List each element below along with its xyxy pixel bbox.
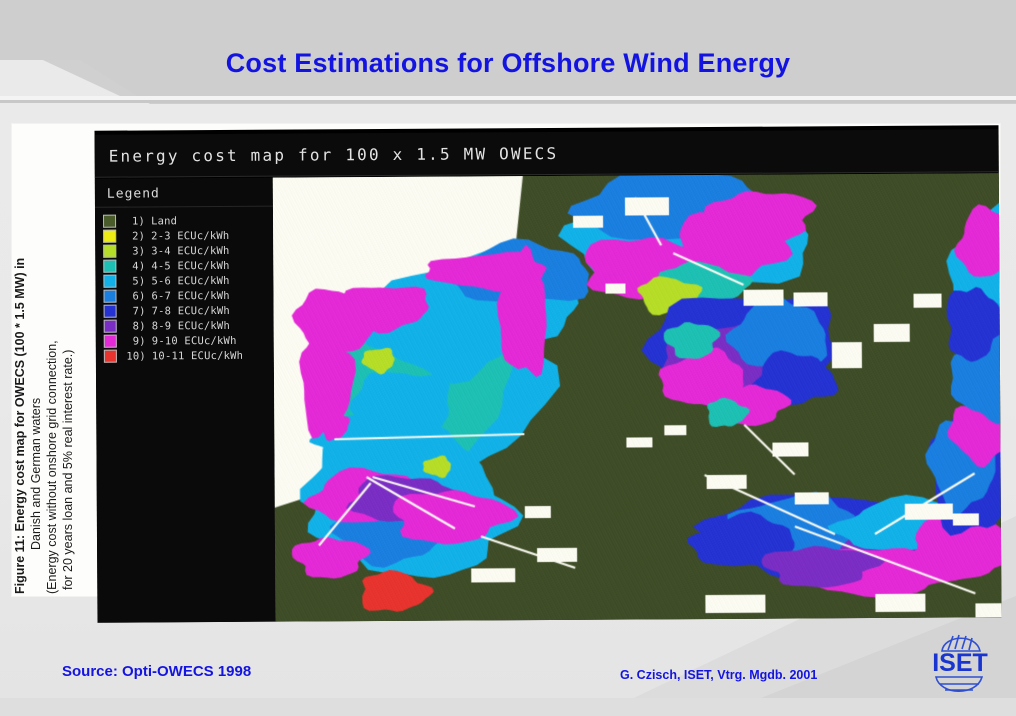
legend-label: 5-6 ECUc/kWh xyxy=(151,274,229,286)
legend-row: 3)3-4 ECUc/kWh xyxy=(103,243,273,259)
legend-row: 7)7-8 ECUc/kWh xyxy=(104,303,274,319)
map-titlebar-text: Energy cost map for 100 x 1.5 MW OWECS xyxy=(95,143,559,165)
caption-line-3: (Energy cost without onshore grid connec… xyxy=(44,340,60,596)
legend-list: 1)Land2)2-3 ECUc/kWh3)3-4 ECUc/kWh4)4-5 … xyxy=(95,213,274,364)
iset-logo: ISET xyxy=(920,625,1000,703)
legend-index: 7) xyxy=(122,305,146,317)
source-note: Source: Opti-OWECS 1998 xyxy=(62,663,251,680)
legend-index: 3) xyxy=(121,245,145,257)
caption-line-1: Figure 11: Energy cost map for OWECS (10… xyxy=(12,258,28,596)
legend-label: 3-4 ECUc/kWh xyxy=(151,244,229,256)
legend-label: 7-8 ECUc/kWh xyxy=(152,304,230,316)
legend-row: 1)Land xyxy=(103,213,273,229)
legend-label: Land xyxy=(151,215,177,227)
caption-line-4: for 20 years loan and 5% real interest r… xyxy=(60,350,76,596)
legend-swatch-icon xyxy=(104,320,117,333)
legend-index: 5) xyxy=(121,275,145,287)
legend-label: 4-5 ECUc/kWh xyxy=(151,259,229,271)
legend-swatch-icon xyxy=(103,290,116,303)
legend-index: 8) xyxy=(122,320,146,332)
legend-index: 2) xyxy=(121,230,145,242)
legend-index: 6) xyxy=(121,290,145,302)
header-rule-dark xyxy=(0,100,1016,103)
legend-row: 8)8-9 ECUc/kWh xyxy=(104,318,274,334)
legend-swatch-icon xyxy=(104,335,117,348)
iset-logo-icon: ISET xyxy=(920,625,1000,703)
legend-swatch-icon xyxy=(103,245,116,258)
author-note: G. Czisch, ISET, Vtrg. Mgdb. 2001 xyxy=(620,668,817,682)
legend-swatch-icon xyxy=(104,305,117,318)
figure-caption: Figure 11: Energy cost map for OWECS (10… xyxy=(12,124,96,596)
legend-row: 2)2-3 ECUc/kWh xyxy=(103,228,273,244)
map-canvas xyxy=(273,173,1002,621)
legend-index: 10) xyxy=(122,350,146,362)
legend-swatch-icon xyxy=(103,275,116,288)
legend-label: 6-7 ECUc/kWh xyxy=(151,289,229,301)
map-legend: Legend 1)Land2)2-3 ECUc/kWh3)3-4 ECUc/kW… xyxy=(95,178,277,623)
legend-label: 10-11 ECUc/kWh xyxy=(152,349,243,362)
iset-logo-text: ISET xyxy=(932,649,988,677)
legend-label: 2-3 ECUc/kWh xyxy=(151,229,229,241)
legend-row: 4)4-5 ECUc/kWh xyxy=(103,258,273,274)
page-title: Cost Estimations for Offshore Wind Energ… xyxy=(0,48,1016,79)
map-titlebar: Energy cost map for 100 x 1.5 MW OWECS xyxy=(95,129,999,178)
legend-swatch-icon xyxy=(104,350,117,363)
legend-label: 9-10 ECUc/kWh xyxy=(152,334,237,347)
bottom-strip xyxy=(0,698,1016,716)
legend-index: 9) xyxy=(122,335,146,347)
legend-row: 9)9-10 ECUc/kWh xyxy=(104,333,274,349)
energy-cost-map-window: Energy cost map for 100 x 1.5 MW OWECS L… xyxy=(95,125,1002,623)
slide: Cost Estimations for Offshore Wind Energ… xyxy=(0,0,1016,716)
caption-line-2: Danish and German waters xyxy=(28,398,44,596)
legend-title: Legend xyxy=(95,178,273,208)
legend-swatch-icon xyxy=(103,230,116,243)
legend-swatch-icon xyxy=(103,260,116,273)
legend-index: 4) xyxy=(121,260,145,272)
map-raster xyxy=(273,173,1002,621)
legend-row: 6)6-7 ECUc/kWh xyxy=(103,288,273,304)
legend-row: 5)5-6 ECUc/kWh xyxy=(103,273,273,289)
legend-label: 8-9 ECUc/kWh xyxy=(152,319,230,331)
legend-swatch-icon xyxy=(103,215,116,228)
legend-row: 10)10-11 ECUc/kWh xyxy=(104,348,274,364)
legend-index: 1) xyxy=(121,215,145,227)
